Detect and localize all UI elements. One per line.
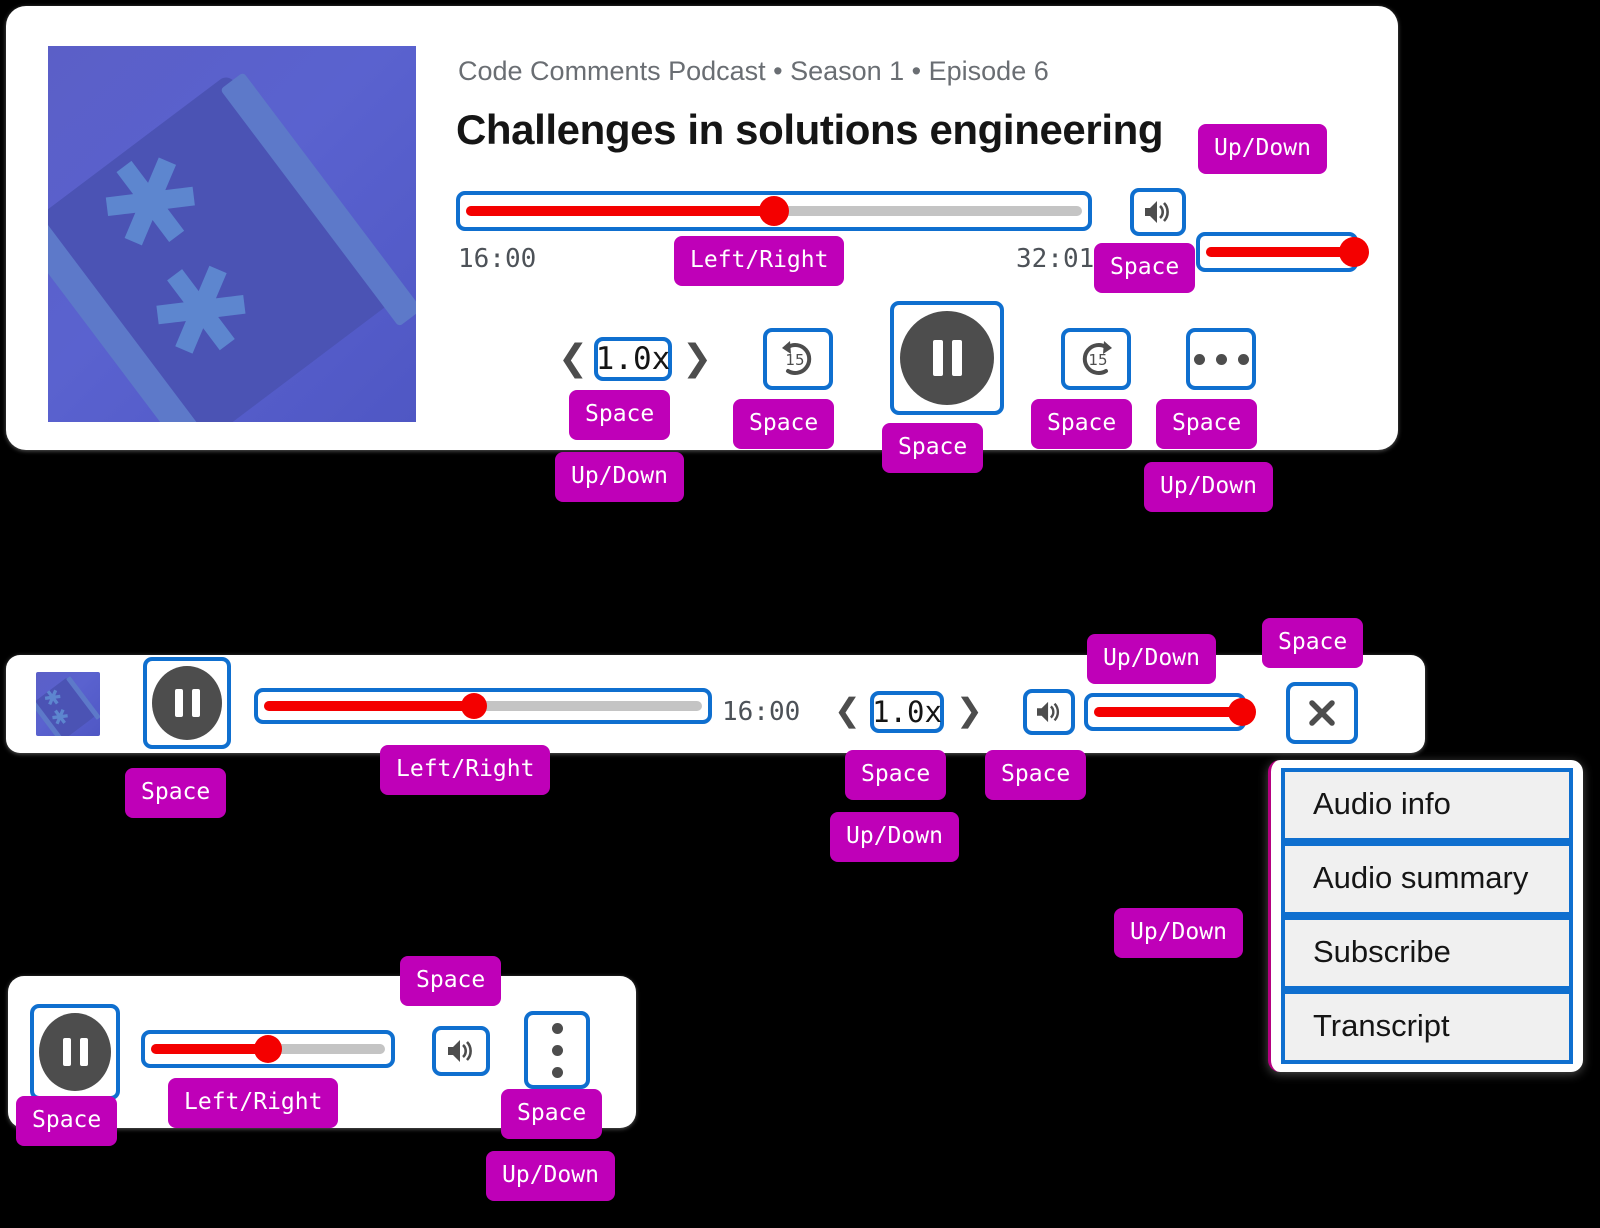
keyboard-hint-badge: Up/Down [486,1151,615,1201]
play-pause-circle [900,311,994,405]
total-time: 32:01 [1016,244,1094,274]
keyboard-hint-badge: Space [1094,243,1195,293]
episode-title: Challenges in solutions engineering [456,106,1163,154]
keyboard-hint-badge: Up/Down [1198,124,1327,174]
ellipsis-horizontal-icon [1194,354,1249,365]
progress-thumb[interactable] [759,196,789,226]
keyboard-hint-badge: Left/Right [380,745,550,795]
compact-current-time: 16:00 [722,697,800,727]
progress-fill [466,206,774,216]
menu-item-label: Audio info [1313,786,1451,821]
compact-play-pause-button[interactable] [143,657,231,749]
forward-15-icon: 15 [1074,338,1118,380]
rewind-15-button[interactable]: 15 [763,328,833,390]
mini-progress-slider[interactable] [141,1030,395,1068]
keyboard-hint-badge: Space [1031,399,1132,449]
volume-button[interactable] [1130,188,1186,236]
mini-more-options-button[interactable] [524,1011,590,1089]
pause-icon [175,689,200,717]
compact-speed-increase-button[interactable]: ❯ [956,691,983,729]
keyboard-hint-badge: Up/Down [1114,908,1243,958]
compact-volume-track [1094,707,1236,717]
speed-value-button[interactable]: 1.0x [594,337,672,381]
keyboard-hint-badge: Up/Down [555,452,684,502]
menu-item-transcript[interactable]: Transcript [1281,990,1573,1064]
menu-item-label: Transcript [1313,1008,1450,1043]
volume-thumb[interactable] [1339,237,1369,267]
mini-play-pause-button[interactable] [30,1004,120,1100]
more-options-button[interactable] [1186,328,1256,390]
volume-fill [1206,247,1348,257]
rewind-15-icon: 15 [776,338,820,380]
keyboard-hint-badge: Space [882,423,983,473]
keyboard-hint-badge: Space [733,399,834,449]
menu-item-subscribe[interactable]: Subscribe [1281,916,1573,990]
speaker-icon [1035,700,1063,724]
menu-item-audio-info[interactable]: Audio info [1281,768,1573,842]
ellipsis-vertical-icon [552,1023,563,1078]
current-time: 16:00 [458,244,536,274]
compact-play-pause-circle [152,666,222,740]
compact-progress-fill [264,701,474,711]
speed-increase-button[interactable]: ❯ [682,338,712,379]
keyboard-hint-badge: Space [125,768,226,818]
compact-volume-button[interactable] [1023,689,1075,735]
pause-icon [63,1038,88,1066]
compact-volume-fill [1094,707,1236,717]
menu-item-label: Subscribe [1313,934,1451,969]
pause-icon [933,340,962,376]
rewind-amount: 15 [785,351,804,369]
podcast-cover-art: ✱ ✱ [48,46,416,422]
speed-decrease-button[interactable]: ❮ [558,338,588,379]
keyboard-hint-badge: Up/Down [1087,634,1216,684]
forward-15-button[interactable]: 15 [1061,328,1131,390]
play-pause-button[interactable] [890,301,1004,415]
compact-cover-art: ✱ ✱ [36,672,100,736]
speaker-icon [1143,199,1173,225]
main-player-card: ✱ ✱ Code Comments Podcast • Season 1 • E… [6,6,1398,450]
keyboard-hint-badge: Space [501,1089,602,1139]
compact-volume-thumb[interactable] [1228,698,1256,726]
episode-meta: Code Comments Podcast • Season 1 • Episo… [458,56,1049,87]
keyboard-hint-badge: Space [1156,399,1257,449]
keyboard-hint-badge: Up/Down [830,812,959,862]
keyboard-hint-badge: Space [569,390,670,440]
volume-track [1206,247,1348,257]
keyboard-hint-badge: Space [985,750,1086,800]
mini-progress-fill [151,1044,268,1054]
speed-value: 1.0x [596,341,671,377]
keyboard-hint-badge: Left/Right [168,1078,338,1128]
keyboard-hint-badge: Space [1262,618,1363,668]
forward-amount: 15 [1088,351,1107,369]
close-icon [1307,698,1337,728]
compact-progress-slider[interactable] [254,688,712,724]
progress-slider[interactable] [456,191,1092,231]
menu-item-label: Audio summary [1313,860,1528,895]
compact-progress-thumb[interactable] [461,693,487,719]
volume-slider[interactable] [1196,232,1358,272]
mini-play-pause-circle [39,1013,111,1091]
compact-volume-slider[interactable] [1084,693,1246,731]
options-menu: Audio info Audio summary Subscribe Trans… [1268,760,1583,1072]
keyboard-hint-badge: Left/Right [674,236,844,286]
mini-progress-thumb[interactable] [254,1035,282,1063]
compact-close-button[interactable] [1286,682,1358,744]
compact-speed-value-button[interactable]: 1.0x [870,691,944,733]
speaker-icon [446,1038,476,1064]
keyboard-hint-badge: Space [845,750,946,800]
keyboard-hint-badge: Space [400,956,501,1006]
compact-speed-value: 1.0x [872,695,942,729]
mini-volume-button[interactable] [432,1026,490,1076]
compact-speed-decrease-button[interactable]: ❮ [834,691,861,729]
menu-item-audio-summary[interactable]: Audio summary [1281,842,1573,916]
keyboard-hint-badge: Space [16,1096,117,1146]
keyboard-hint-badge: Up/Down [1144,462,1273,512]
